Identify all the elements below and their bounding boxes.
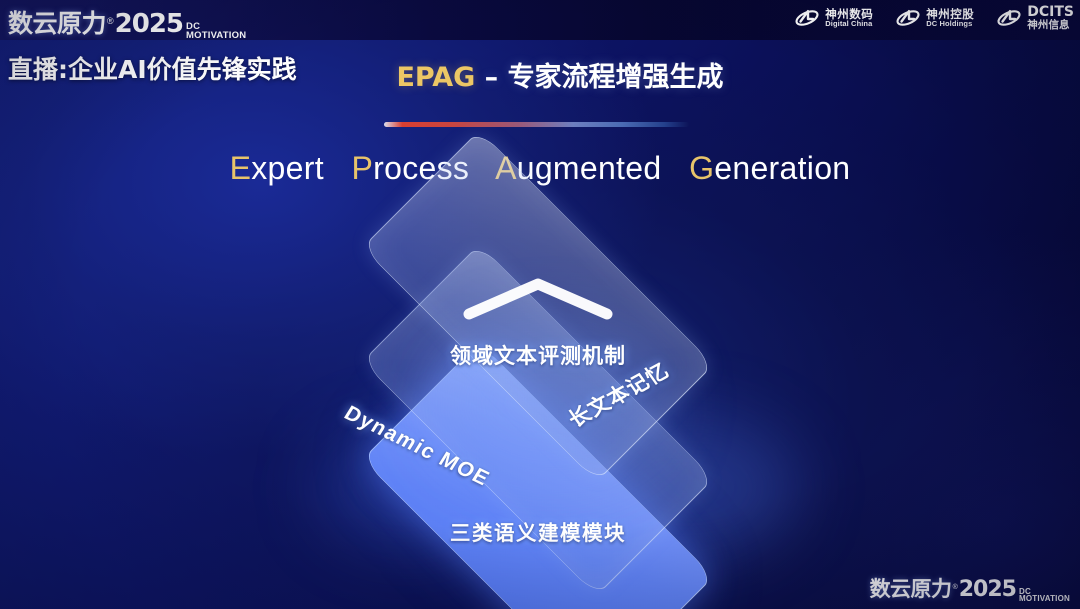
slide-canvas: 数云原力 ® 2025 DC MOTIVATION 直播:企业AI价值先锋实践 … bbox=[0, 0, 1080, 609]
subtitle-word-generation: Generation bbox=[689, 150, 850, 186]
logo-digital-china-text: 神州数码 Digital China bbox=[825, 8, 873, 28]
subtitle-word-expert: Expert bbox=[230, 150, 324, 186]
logo-digital-china: 神州数码 Digital China bbox=[794, 6, 873, 30]
watermark-motivation-line: MOTIVATION bbox=[1019, 595, 1070, 603]
layered-architecture-diagram: 领域文本评测机制 Dynamic MOE 长文本记忆 三类语义建模模块 bbox=[278, 228, 798, 588]
title-chinese: 专家流程增强生成 bbox=[508, 62, 724, 93]
logo-digital-china-en: Digital China bbox=[825, 20, 873, 28]
watermark-registered-mark: ® bbox=[953, 584, 958, 591]
watermark-dc-motivation: DC MOTIVATION bbox=[1019, 588, 1070, 603]
layer-bottom-label: 三类语义建模模块 bbox=[450, 516, 626, 546]
title-dash: – bbox=[475, 62, 507, 93]
logo-dcits-cn: DCITS bbox=[1027, 5, 1074, 20]
logo-dc-holdings-en: DC Holdings bbox=[926, 20, 974, 28]
brand-year: 2025 bbox=[115, 9, 183, 39]
logo-dcits: DCITS 神州信息 bbox=[996, 5, 1074, 31]
layer-top-label: 领域文本评测机制 bbox=[450, 340, 626, 370]
title-divider bbox=[384, 122, 689, 127]
slide-title: EPAG – 专家流程增强生成 bbox=[0, 55, 1080, 94]
chevron-up-icon bbox=[461, 274, 615, 322]
swirl-logo-icon bbox=[794, 6, 820, 30]
title-acronym: EPAG bbox=[396, 62, 475, 93]
logo-dc-holdings: 神州控股 DC Holdings bbox=[895, 6, 974, 30]
watermark-brand-cn: 数云原力 bbox=[870, 573, 952, 603]
registered-mark: ® bbox=[107, 16, 114, 26]
logo-dcits-text: DCITS 神州信息 bbox=[1027, 5, 1074, 31]
logo-dcits-en: 神州信息 bbox=[1027, 20, 1074, 31]
subtitle-space-1 bbox=[333, 150, 342, 186]
logo-dc-holdings-text: 神州控股 DC Holdings bbox=[926, 8, 974, 28]
watermark-year: 2025 bbox=[959, 577, 1016, 602]
brand-logo-top-left: 数云原力 ® 2025 DC MOTIVATION bbox=[8, 4, 246, 43]
partner-logos: 神州数码 Digital China 神州控股 DC Holdings DCIT… bbox=[794, 5, 1074, 31]
swirl-logo-icon bbox=[895, 6, 921, 30]
swirl-logo-icon bbox=[996, 6, 1022, 30]
slide-subtitle-english: Expert Process Augmented Generation bbox=[0, 150, 1080, 187]
brand-motivation-line: MOTIVATION bbox=[186, 31, 246, 40]
subtitle-space-3 bbox=[671, 150, 680, 186]
brand-logo-bottom-right: 数云原力 ® 2025 DC MOTIVATION bbox=[870, 573, 1070, 605]
brand-name-cn: 数云原力 bbox=[8, 4, 106, 40]
brand-dc-motivation: DC MOTIVATION bbox=[186, 22, 246, 40]
